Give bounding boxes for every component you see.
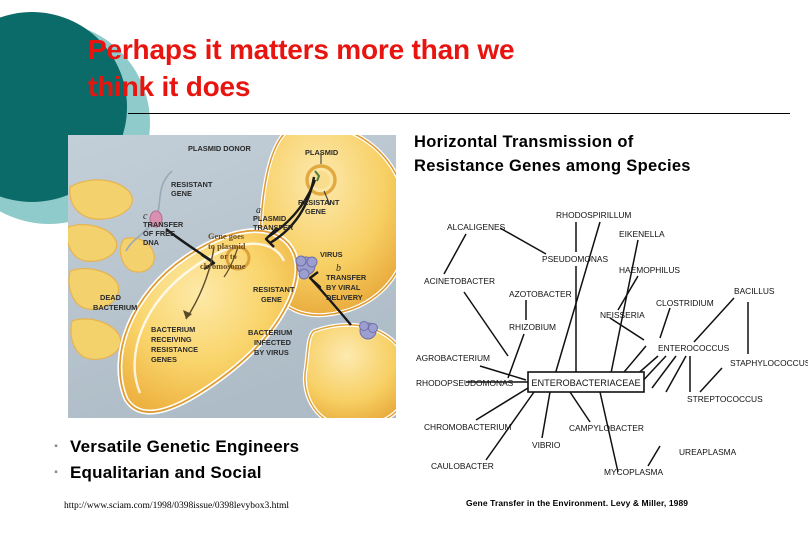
page-title-line-1: Perhaps it matters more than we — [88, 32, 688, 69]
illustration-label: DELIVERY — [326, 293, 363, 302]
illustration-label: TRANSFER — [143, 220, 184, 229]
bullet-label: Equalitarian and Social — [70, 463, 262, 483]
illustration-label: VIRUS — [320, 250, 343, 259]
bullet-label: Versatile Genetic Engineers — [70, 437, 299, 457]
species-label: UREAPLASMA — [679, 447, 737, 457]
illustration-label: Gene goes — [208, 232, 245, 241]
species-label: HAEMOPHILUS — [619, 265, 680, 275]
illustration-label: to plasmid — [208, 242, 246, 251]
central-node-label: ENTEROBACTERIACEAE — [531, 378, 640, 388]
illustration-label: BY VIRUS — [254, 348, 289, 357]
species-network-diagram: ENTEROBACTERIACEAE RHODOSPIRILLUM ALCALI… — [404, 196, 808, 516]
illustration-label: PLASMID DONOR — [188, 144, 251, 153]
illustration-label: RESISTANCE — [151, 345, 198, 354]
title-divider — [128, 113, 790, 114]
illustration-label: RESISTANT — [298, 198, 340, 207]
species-label: ACINETOBACTER — [424, 276, 495, 286]
illustration-label: RECEIVING — [151, 335, 192, 344]
diagram-caption: Gene Transfer in the Environment. Levy &… — [466, 498, 688, 508]
source-url[interactable]: http://www.sciam.com/1998/0398issue/0398… — [64, 501, 289, 511]
illustration-label: GENES — [151, 355, 177, 364]
bullet-marker-icon: ▪ — [42, 442, 70, 452]
illustration-label: or to — [220, 252, 237, 261]
illustration-label: RESISTANT — [171, 180, 213, 189]
illustration-label: TRANSFER — [253, 223, 294, 232]
illustration-label: a — [256, 205, 261, 216]
species-label: AZOTOBACTER — [509, 289, 572, 299]
species-label: ENTEROCOCCUS — [658, 343, 730, 353]
species-label: CLOSTRIDIUM — [656, 298, 714, 308]
species-label: BACILLUS — [734, 286, 775, 296]
species-label: STREPTOCOCCUS — [687, 394, 763, 404]
section-heading: Horizontal Transmission of Resistance Ge… — [414, 131, 810, 179]
illustration-label: BACTERIUM — [151, 325, 195, 334]
species-label: CAULOBACTER — [431, 461, 494, 471]
list-item: ▪ Versatile Genetic Engineers — [42, 434, 422, 460]
species-label: RHODOSPIRILLUM — [556, 210, 631, 220]
section-heading-line-2: Resistance Genes among Species — [414, 155, 810, 179]
species-label: AGROBACTERIUM — [416, 353, 490, 363]
species-label: EIKENELLA — [619, 229, 665, 239]
page-title: Perhaps it matters more than we think it… — [88, 32, 688, 106]
species-label: CHROMOBACTERIUM — [424, 422, 511, 432]
illustration-label: TRANSFER — [326, 273, 367, 282]
species-label: VIBRIO — [532, 440, 561, 450]
species-label: RHIZOBIUM — [509, 322, 556, 332]
slide-canvas: Perhaps it matters more than we think it… — [0, 0, 810, 540]
species-label: ALCALIGENES — [447, 222, 506, 232]
species-label: STAPHYLOCOCCUS — [730, 358, 808, 368]
bullet-list: ▪ Versatile Genetic Engineers ▪ Equalita… — [42, 434, 422, 486]
illustration-label: chromosome — [200, 262, 246, 271]
illustration-label: PLASMID — [305, 148, 339, 157]
species-label: PSEUDOMONAS — [542, 254, 608, 264]
illustration-label: GENE — [305, 207, 326, 216]
section-heading-line-1: Horizontal Transmission of — [414, 131, 810, 155]
illustration-label: DEAD — [100, 293, 122, 302]
illustration-label: BACTERIUM — [248, 328, 292, 337]
bullet-marker-icon: ▪ — [42, 468, 70, 478]
illustration-label: DNA — [143, 238, 160, 247]
illustration-label: c — [143, 211, 148, 222]
illustration-label: OF FREE — [143, 229, 175, 238]
illustration-label: GENE — [171, 189, 192, 198]
species-label: MYCOPLASMA — [604, 467, 664, 477]
species-label: CAMPYLOBACTER — [569, 423, 644, 433]
illustration-label: b — [336, 263, 341, 274]
species-label: NEISSERIA — [600, 310, 645, 320]
page-title-line-2: think it does — [88, 69, 688, 106]
species-label: RHODOPSEUDOMONAS — [416, 378, 514, 388]
list-item: ▪ Equalitarian and Social — [42, 460, 422, 486]
illustration-label: GENE — [261, 295, 282, 304]
gene-transfer-illustration: PLASMID DONOR PLASMID RESISTANT GENE RES… — [68, 135, 396, 418]
illustration-label: BACTERIUM — [93, 303, 137, 312]
illustration-label: RESISTANT — [253, 285, 295, 294]
illustration-label: BY VIRAL — [326, 283, 361, 292]
illustration-label: INFECTED — [254, 338, 292, 347]
